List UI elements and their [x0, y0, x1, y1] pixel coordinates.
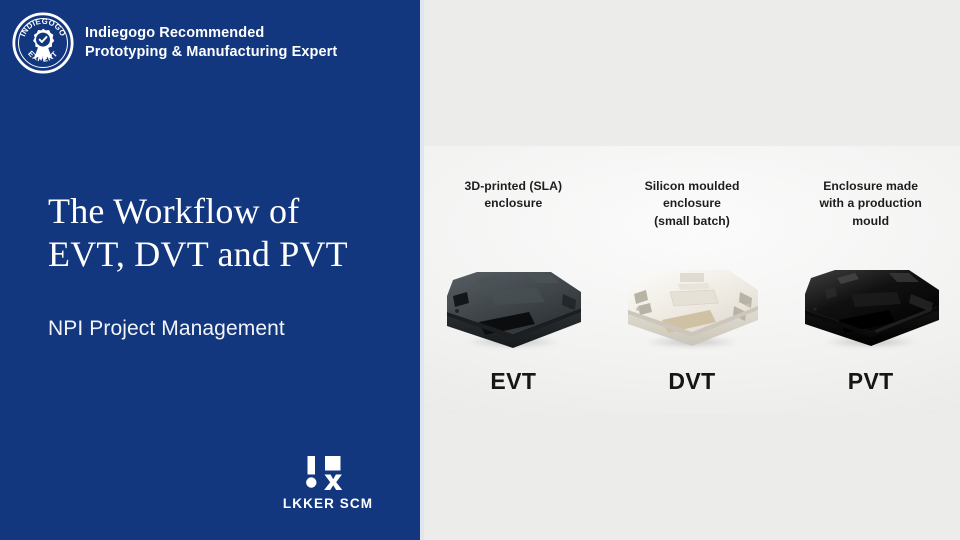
lkker-logo: LKKER SCM	[272, 455, 384, 511]
right-content-area: 3D-printed (SLA) enclosure	[424, 0, 960, 540]
part-caption-dvt: Silicon moulded enclosure (small batch)	[645, 178, 740, 230]
enclosure-comparison-photo: 3D-printed (SLA) enclosure	[424, 146, 960, 414]
lkker-wordmark: LKKER SCM	[272, 496, 384, 511]
evt-enclosure-part	[433, 250, 593, 358]
part-stage-evt	[424, 250, 603, 360]
title-block: The Workflow of EVT, DVT and PVT NPI Pro…	[48, 190, 400, 342]
stage-label-pvt: PVT	[781, 368, 960, 395]
brand-header-text: Indiegogo Recommended Prototyping & Manu…	[85, 24, 337, 63]
part-stage-dvt	[603, 250, 782, 360]
slide-title: The Workflow of EVT, DVT and PVT	[48, 190, 400, 276]
lkker-exclamation-x-mark-icon	[305, 455, 351, 491]
left-blue-panel: INDIEGOGO EXPERT Indiegogo Recommended P…	[0, 0, 420, 540]
part-caption-pvt: Enclosure made with a production mould	[819, 178, 921, 230]
slide-canvas: INDIEGOGO EXPERT Indiegogo Recommended P…	[0, 0, 960, 540]
part-caption-evt: 3D-printed (SLA) enclosure	[465, 178, 563, 213]
photo-column-dvt: Silicon moulded enclosure (small batch)	[603, 146, 782, 414]
slide-subtitle: NPI Project Management	[48, 276, 400, 341]
photo-column-evt: 3D-printed (SLA) enclosure	[424, 146, 603, 414]
stage-label-evt: EVT	[424, 368, 603, 395]
brand-header: INDIEGOGO EXPERT Indiegogo Recommended P…	[12, 12, 337, 74]
part-stage-pvt	[781, 250, 960, 360]
stage-label-dvt: DVT	[603, 368, 782, 395]
dvt-enclosure-part	[612, 250, 772, 358]
pvt-enclosure-part	[791, 250, 951, 358]
photo-column-pvt: Enclosure made with a production mould	[781, 146, 960, 414]
indiegogo-expert-badge-icon: INDIEGOGO EXPERT	[12, 12, 74, 74]
